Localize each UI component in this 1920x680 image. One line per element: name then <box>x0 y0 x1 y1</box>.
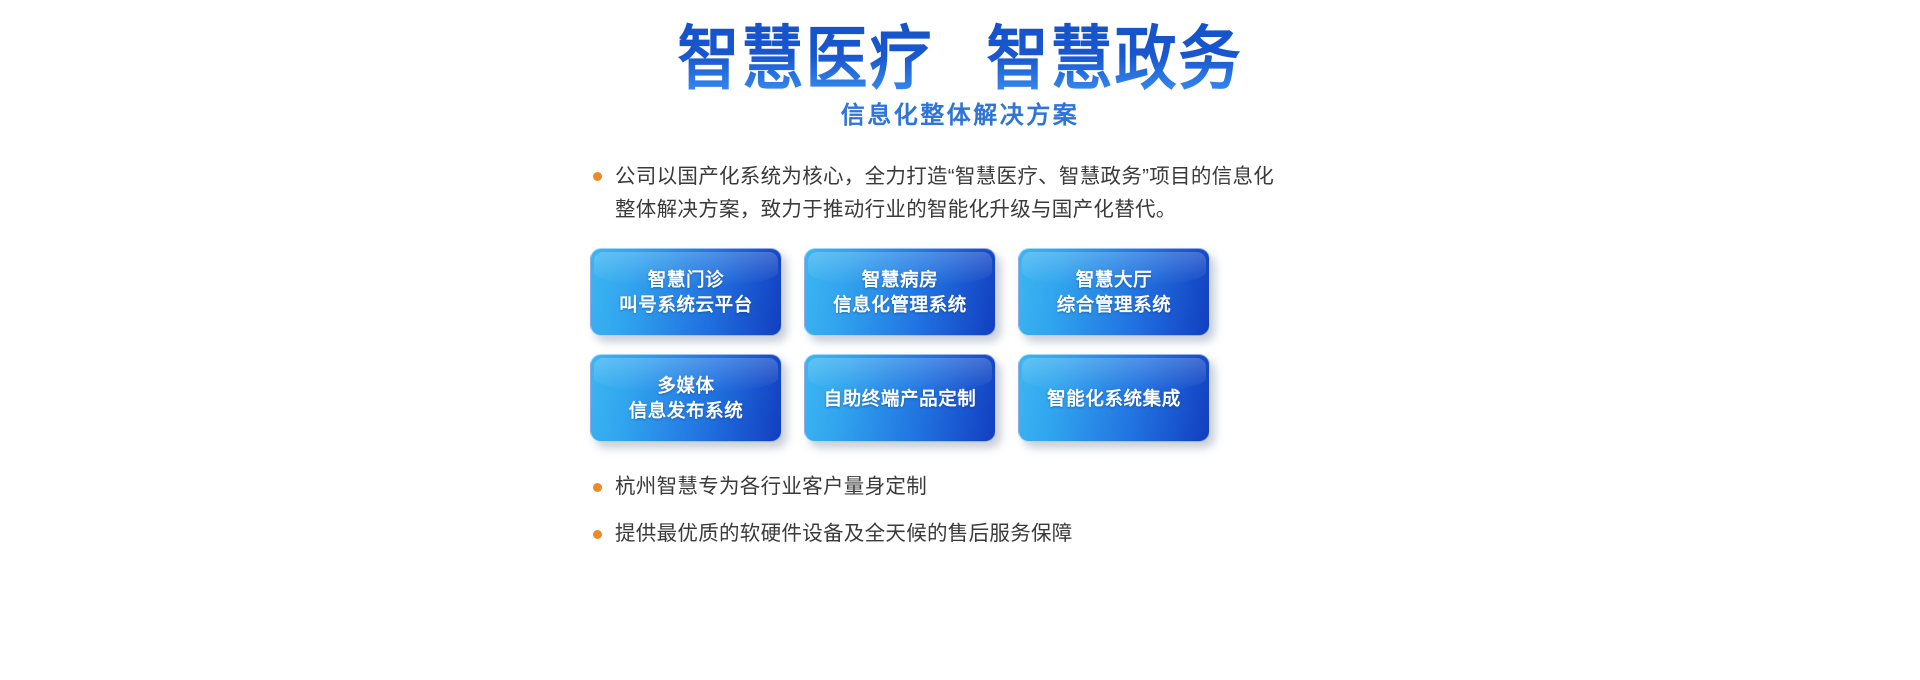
solution-card[interactable]: 智慧门诊 叫号系统云平台 <box>590 248 782 336</box>
solution-card[interactable]: 智能化系统集成 <box>1018 354 1210 442</box>
title-right: 智慧政务 <box>986 20 1242 101</box>
list-item: 提供最优质的软硬件设备及全天候的售后服务保障 <box>593 519 1293 549</box>
solution-card-grid: 智慧门诊 叫号系统云平台 智慧病房 信息化管理系统 智慧大厅 综合管理系统 多媒… <box>590 248 1210 460</box>
card-label: 智能化系统集成 <box>1039 386 1189 411</box>
footer-item-label: 杭州智慧专为各行业客户量身定制 <box>615 472 927 502</box>
card-label: 多媒体 信息发布系统 <box>621 373 752 423</box>
solution-card[interactable]: 智慧病房 信息化管理系统 <box>804 248 996 336</box>
card-row: 智慧门诊 叫号系统云平台 智慧病房 信息化管理系统 智慧大厅 综合管理系统 <box>590 248 1210 336</box>
card-label: 智慧门诊 叫号系统云平台 <box>611 267 761 317</box>
card-label: 智慧病房 信息化管理系统 <box>825 267 975 317</box>
solution-card[interactable]: 多媒体 信息发布系统 <box>590 354 782 442</box>
header-section: 智慧医疗 智慧政务 信息化整体解决方案 <box>0 0 1920 150</box>
list-item: 杭州智慧专为各行业客户量身定制 <box>593 472 1293 502</box>
bullet-dot-icon <box>593 530 602 539</box>
subtitle-row: 信息化整体解决方案 <box>0 100 1920 132</box>
lead-paragraph: 公司以国产化系统为核心，全力打造“智慧医疗、智慧政务”项目的信息化整体解决方案，… <box>593 160 1293 226</box>
solution-card[interactable]: 智慧大厅 综合管理系统 <box>1018 248 1210 336</box>
lead-text: 公司以国产化系统为核心，全力打造“智慧医疗、智慧政务”项目的信息化整体解决方案，… <box>615 160 1293 226</box>
footer-item-label: 提供最优质的软硬件设备及全天候的售后服务保障 <box>615 519 1073 549</box>
footer-bullet-list: 杭州智慧专为各行业客户量身定制 提供最优质的软硬件设备及全天候的售后服务保障 <box>593 472 1293 566</box>
main-title: 智慧医疗 智慧政务 <box>0 20 1920 92</box>
card-label: 智慧大厅 综合管理系统 <box>1049 267 1180 317</box>
title-left: 智慧医疗 <box>678 20 934 101</box>
card-label: 自助终端产品定制 <box>816 386 985 411</box>
bullet-dot-icon <box>593 483 602 492</box>
bullet-dot-icon <box>593 172 602 181</box>
promo-banner: 智慧医疗 智慧政务 信息化整体解决方案 公司以国产化系统为核心，全力打造“智慧医… <box>0 0 1920 680</box>
subtitle: 信息化整体解决方案 <box>827 100 1094 132</box>
card-row: 多媒体 信息发布系统 自助终端产品定制 智能化系统集成 <box>590 354 1210 442</box>
solution-card[interactable]: 自助终端产品定制 <box>804 354 996 442</box>
